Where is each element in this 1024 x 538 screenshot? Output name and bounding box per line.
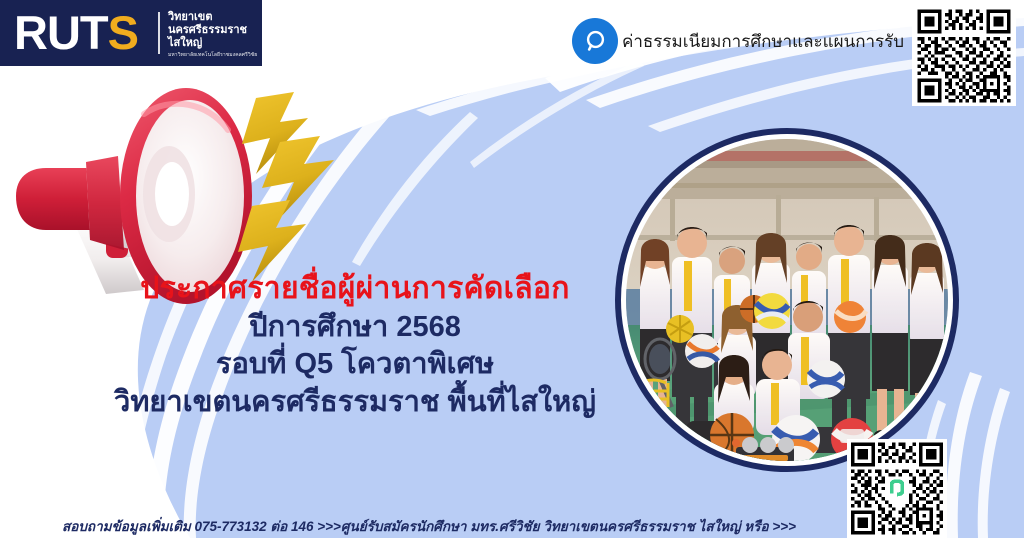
headline-block: ประกาศรายชื่อผู้ผ่านการคัดเลือก ปีการศึก… [30, 272, 680, 418]
logo-wordmark: RUTS [14, 7, 146, 59]
search-icon[interactable] [572, 18, 618, 64]
qr-code-fees[interactable] [912, 6, 1016, 106]
logo-mark-accent: S [108, 6, 138, 59]
footer-contact-text: สอบถามข้อมูลเพิ่มเติม 075-773132 ต่อ 146… [62, 515, 796, 537]
logo-university-subtitle: มหาวิทยาลัยเทคโนโลยีราชมงคลศรีวิชัย [168, 52, 260, 59]
fees-search-row[interactable]: ค่าธรรมเนียมการศึกษาและแผนการรับ [572, 18, 904, 64]
headline-line-4: วิทยาเขตนครศรีธรรมราช พื้นที่ไสใหญ่ [30, 386, 680, 418]
logo-divider [158, 12, 160, 54]
headline-line-3: รอบที่ Q5 โควตาพิเศษ [30, 348, 680, 380]
announcement-poster: RUTS วิทยาเขต นครศรีธรรมราช ไสใหญ่ มหาวิ… [0, 0, 1024, 538]
fees-search-label: ค่าธรรมเนียมการศึกษาและแผนการรับ [622, 28, 904, 55]
logo-campus-line-1: วิทยาเขต [168, 11, 260, 24]
headline-line-2: ปีการศึกษา 2568 [30, 311, 680, 343]
logo-mark-primary: RUT [14, 6, 108, 59]
ruts-logo: RUTS วิทยาเขต นครศรีธรรมราช ไสใหญ่ มหาวิ… [0, 0, 262, 66]
logo-campus-text: วิทยาเขต นครศรีธรรมราช ไสใหญ่ มหาวิทยาลั… [168, 11, 260, 59]
logo-campus-line-3: ไสใหญ่ [168, 37, 260, 50]
logo-campus-line-2: นครศรีธรรมราช [168, 24, 260, 37]
qr-code-line[interactable] [847, 439, 947, 538]
headline-line-1: ประกาศรายชื่อผู้ผ่านการคัดเลือก [30, 272, 680, 306]
